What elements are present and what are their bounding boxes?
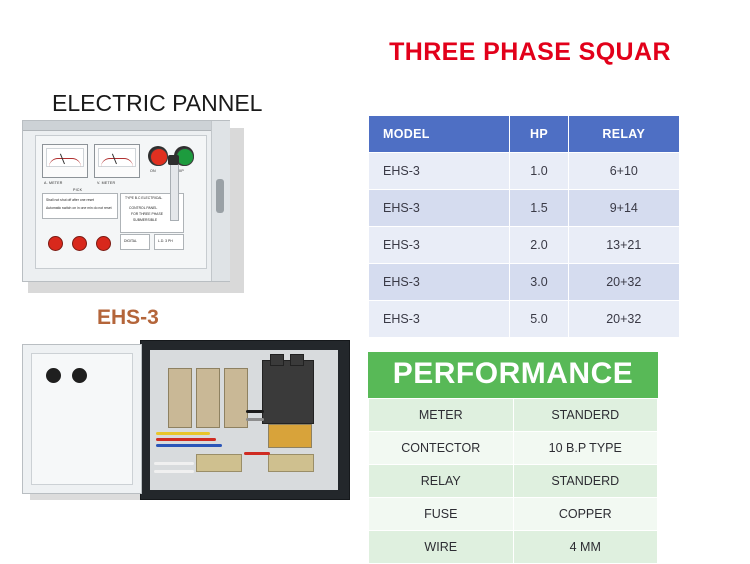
- model-spec-table-body: EHS-3 1.0 6+10 EHS-3 1.5 9+14 EHS-3 2.0 …: [369, 153, 680, 338]
- transformer-block: [268, 424, 312, 448]
- cell-hp: 2.0: [510, 227, 568, 264]
- performance-table-body: METER STANDERD CONTECTOR 10 B.P TYPE REL…: [369, 398, 658, 563]
- push-button-1[interactable]: [48, 236, 63, 251]
- voltmeter-scale-arc: [101, 158, 133, 167]
- open-panel-backplate: [150, 350, 338, 490]
- table-row: EHS-3 5.0 20+32: [369, 301, 680, 338]
- perf-label: METER: [369, 398, 514, 431]
- perf-label: WIRE: [369, 530, 514, 563]
- table-row: FUSE COPPER: [369, 497, 658, 530]
- push-button-2[interactable]: [72, 236, 87, 251]
- cell-relay: 13+21: [568, 227, 679, 264]
- open-panel-door-inner: [31, 353, 133, 485]
- cell-hp: 1.0: [510, 153, 568, 190]
- table-row: EHS-3 2.0 13+21: [369, 227, 680, 264]
- brand-line-3: SUBMERSIBLE: [133, 218, 157, 223]
- poster-page: THREE PHASE SQUAR ELECTRIC PANNEL A. MET…: [0, 0, 750, 563]
- cell-hp: 5.0: [510, 301, 568, 338]
- table-row: METER STANDERD: [369, 398, 658, 431]
- perf-label: RELAY: [369, 464, 514, 497]
- panel-heading: ELECTRIC PANNEL: [52, 90, 262, 117]
- performance-section: PERFORMANCE METER STANDERD CONTECTOR 10 …: [368, 352, 658, 564]
- main-switch-rod[interactable]: [170, 161, 179, 221]
- wire-gray-1: [246, 418, 264, 421]
- closed-panel-photo: A. METER V. METER PICK ON TRIP S: [22, 120, 247, 295]
- cell-relay: 6+10: [568, 153, 679, 190]
- header-hp: HP: [510, 116, 568, 153]
- cell-model: EHS-3: [369, 190, 510, 227]
- ammeter: [42, 144, 88, 178]
- table-header-row: MODEL HP RELAY: [369, 116, 680, 153]
- open-panel-photo: [22, 340, 352, 505]
- indicator-lamp-red[interactable]: [150, 148, 168, 166]
- panel-body: A. METER V. METER PICK ON TRIP S: [22, 120, 230, 282]
- open-panel-door[interactable]: [22, 344, 142, 494]
- table-row: EHS-3 1.0 6+10: [369, 153, 680, 190]
- instruction-plate: Shall not shut off after one reset Autom…: [42, 193, 118, 219]
- model-spec-table-head: MODEL HP RELAY: [369, 116, 680, 153]
- data-plate-left: DIGITAL: [120, 234, 150, 250]
- cell-relay: 9+14: [568, 190, 679, 227]
- wire-yellow-1: [156, 432, 210, 435]
- perf-value: STANDERD: [513, 464, 658, 497]
- center-label: PICK: [73, 188, 82, 192]
- wire-blue-1: [156, 444, 222, 447]
- panel-front-face: A. METER V. METER PICK ON TRIP S: [35, 135, 207, 269]
- brand-line-2: FOR THREE PHASE: [131, 212, 163, 217]
- relay-assembly: [262, 360, 314, 424]
- wire-black-1: [246, 410, 264, 413]
- wire-red-2: [244, 452, 270, 455]
- ammeter-label: A. METER: [44, 181, 63, 185]
- wire-red-1: [156, 438, 216, 441]
- relay-terminal-b: [290, 354, 304, 366]
- voltmeter: [94, 144, 140, 178]
- perf-value: 4 MM: [513, 530, 658, 563]
- data-plate-left-text: DIGITAL: [124, 239, 137, 244]
- header-relay: RELAY: [568, 116, 679, 153]
- main-switch-knob[interactable]: [168, 155, 179, 165]
- terminal-strip-left: [196, 454, 242, 472]
- instruction-line-1: Shall not shut off after one reset: [46, 198, 114, 203]
- table-row: WIRE 4 MM: [369, 530, 658, 563]
- perf-value: STANDERD: [513, 398, 658, 431]
- perf-label: CONTECTOR: [369, 431, 514, 464]
- door-knob-2[interactable]: [72, 368, 87, 383]
- table-row: EHS-3 1.5 9+14: [369, 190, 680, 227]
- wire-white-1: [154, 462, 194, 465]
- cell-relay: 20+32: [568, 264, 679, 301]
- voltmeter-label: V. METER: [97, 181, 115, 185]
- lamp-red-label: ON: [150, 169, 156, 173]
- contactor-1: [168, 368, 192, 428]
- contactor-3: [224, 368, 248, 428]
- cell-model: EHS-3: [369, 227, 510, 264]
- header-model: MODEL: [369, 116, 510, 153]
- data-plate-right: L.D. 3 PH: [154, 234, 184, 250]
- perf-value: 10 B.P TYPE: [513, 431, 658, 464]
- relay-terminal-a: [270, 354, 284, 366]
- panel-lid: [23, 121, 229, 131]
- perf-value: COPPER: [513, 497, 658, 530]
- performance-title: PERFORMANCE: [368, 352, 658, 398]
- push-button-3[interactable]: [96, 236, 111, 251]
- door-knob-1[interactable]: [46, 368, 61, 383]
- brand-line-1: CONTROL PANEL: [129, 206, 157, 211]
- data-plate-right-text: L.D. 3 PH: [158, 239, 173, 244]
- instruction-line-2: Automatic switch on in one min do not re…: [46, 206, 114, 211]
- wire-white-2: [154, 470, 194, 473]
- table-row: CONTECTOR 10 B.P TYPE: [369, 431, 658, 464]
- model-caption: EHS-3: [97, 306, 159, 330]
- performance-table: METER STANDERD CONTECTOR 10 B.P TYPE REL…: [368, 398, 658, 564]
- open-panel-enclosure: [140, 340, 350, 500]
- cell-model: EHS-3: [369, 153, 510, 190]
- terminal-strip-right: [268, 454, 314, 472]
- cell-hp: 3.0: [510, 264, 568, 301]
- ammeter-scale-arc: [49, 158, 81, 167]
- page-title: THREE PHASE SQUAR: [360, 38, 700, 67]
- cell-model: EHS-3: [369, 301, 510, 338]
- brand-plate-title: TYPE B.C ELECTRICAL: [125, 196, 162, 201]
- perf-label: FUSE: [369, 497, 514, 530]
- panel-handle[interactable]: [216, 179, 224, 213]
- cell-model: EHS-3: [369, 264, 510, 301]
- contactor-2: [196, 368, 220, 428]
- table-row: RELAY STANDERD: [369, 464, 658, 497]
- cell-hp: 1.5: [510, 190, 568, 227]
- model-spec-table: MODEL HP RELAY EHS-3 1.0 6+10 EHS-3 1.5 …: [368, 115, 680, 338]
- table-row: EHS-3 3.0 20+32: [369, 264, 680, 301]
- cell-relay: 20+32: [568, 301, 679, 338]
